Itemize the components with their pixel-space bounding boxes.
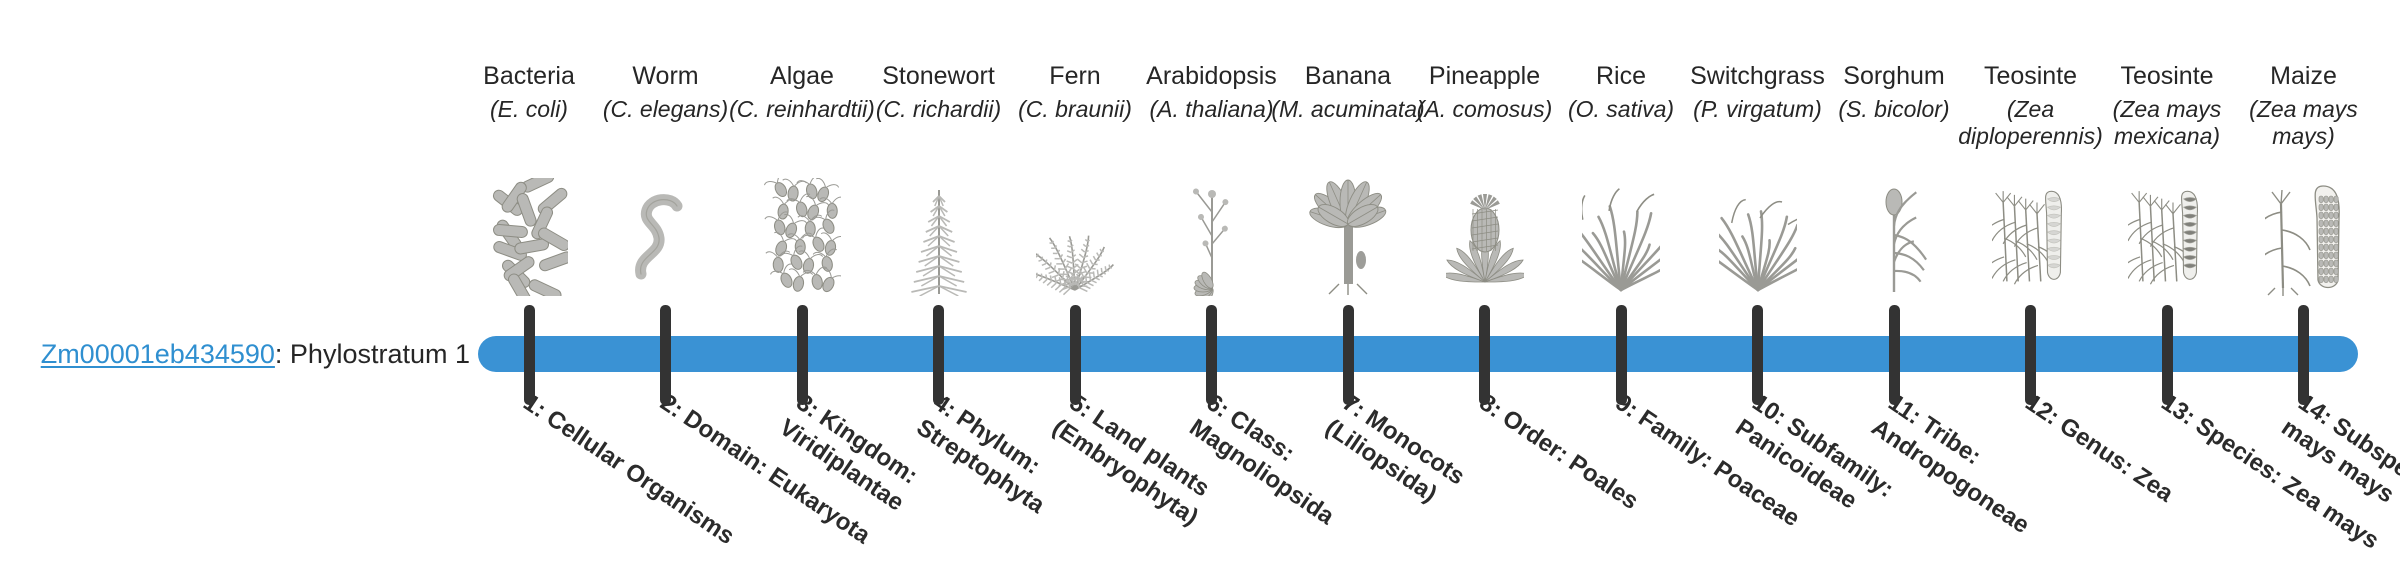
phylostratum-tick-1 [524, 305, 535, 405]
species-column-5: Fern(C. braunii)5: Land plants (Embryoph… [1007, 0, 1144, 580]
species-column-2: Worm(C. elegans)2: Domain: Eukaryota [597, 0, 734, 580]
phylostratum-tick-6 [1206, 305, 1217, 405]
phylostratum-rank-label-14: 14: Subspecies: Zea mays mays [2275, 388, 2400, 583]
phylostratum-tick-10 [1752, 305, 1763, 405]
species-column-3: Algae(C. reinhardtii)3: Kingdom: Viridip… [734, 0, 871, 580]
phylostratum-tick-3 [797, 305, 808, 405]
species-column-7: Banana(M. acuminata)7: Monocots (Liliops… [1280, 0, 1417, 580]
gene-label-separator: : [275, 339, 290, 369]
species-column-4: Stonewort(C. richardii)4: Phylum: Strept… [870, 0, 1007, 580]
phylostratum-tick-12 [2025, 305, 2036, 405]
phylostratum-tick-7 [1343, 305, 1354, 405]
gene-id-link[interactable]: Zm00001eb434590 [41, 339, 275, 369]
phylostratum-tick-9 [1616, 305, 1627, 405]
species-column-13: Teosinte(Zea mays mexicana)13: Species: … [2099, 0, 2236, 580]
species-column-14: Maize(Zea mays mays)14: Subspecies: Zea … [2235, 0, 2372, 580]
species-column-10: Switchgrass(P. virgatum)10: Subfamily: P… [1689, 0, 1826, 580]
phylostratum-value: Phylostratum 1 [290, 339, 470, 369]
phylostratum-tick-2 [660, 305, 671, 405]
species-column-11: Sorghum(S. bicolor)11: Tribe: Andropogon… [1826, 0, 1963, 580]
species-column-9: Rice(O. sativa)9: Family: Poaceae [1553, 0, 1690, 580]
maize-icon [2221, 178, 2386, 296]
phylostratum-tick-11 [1889, 305, 1900, 405]
phylostratum-tick-13 [2162, 305, 2173, 405]
phylostratum-tick-8 [1479, 305, 1490, 405]
species-column-1: Bacteria(E. coli)1: Cellular Organisms [461, 0, 598, 580]
phylostratum-tick-4 [933, 305, 944, 405]
species-column-8: Pineapple(A. comosus)8: Order: Poales [1416, 0, 1553, 580]
phylostratum-figure: Zm00001eb434590: Phylostratum 1 Bacteria… [0, 0, 2400, 580]
species-scientific-name: (Zea mays mays) [2221, 96, 2386, 150]
species-common-name: Maize [2221, 62, 2386, 91]
gene-phylostratum-label: Zm00001eb434590: Phylostratum 1 [0, 338, 470, 370]
species-column-12: Teosinte(Zea diploperennis)12: Genus: Ze… [1962, 0, 2099, 580]
phylostratum-tick-14 [2298, 305, 2309, 405]
species-column-6: Arabidopsis(A. thaliana)6: Class: Magnol… [1143, 0, 1280, 580]
phylostratum-tick-5 [1070, 305, 1081, 405]
